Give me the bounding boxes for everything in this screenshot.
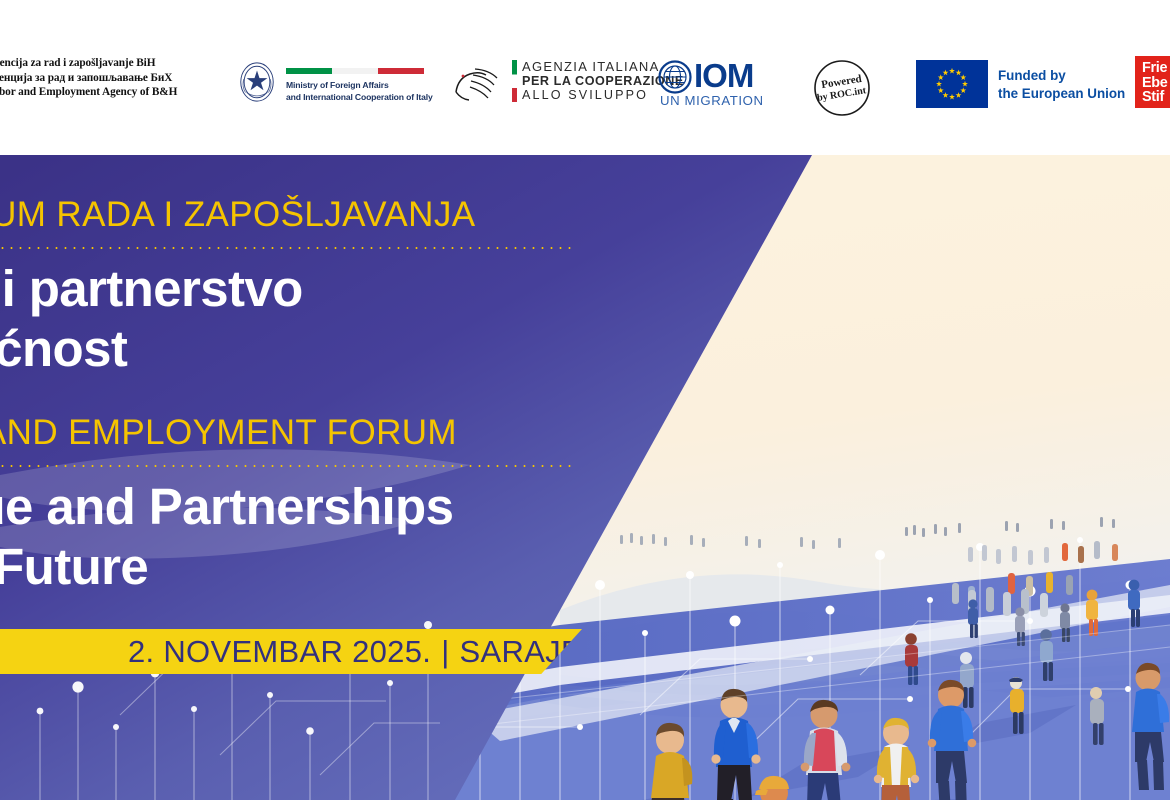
logo-funded-by-european-union: Funded by the European Union	[916, 60, 1116, 108]
dotted-rule-bosnian	[0, 247, 575, 249]
poster-page: Agencija za rad i zapošljavanje BiH Аген…	[0, 0, 1170, 800]
logo-friedrich-ebert-stiftung: Frie Ebe Stif	[1135, 56, 1170, 108]
logo-agenzia-italiana-cooperazione: AGENZIA ITALIANA PER LA COOPERAZIONE ALL…	[450, 56, 640, 111]
banner-text-block: VI FORUM RADA I ZAPOŠLJAVANJA jalog i pa…	[0, 155, 632, 800]
iom-acronym: IOM	[694, 55, 753, 97]
headline-bosnian-line2: budućnost	[0, 319, 127, 379]
partner-logo-strip: Agencija za rad i zapošljavanje BiH Аген…	[0, 0, 1170, 155]
agency-name-sr: Агенција за рад и запошљавање БиХ	[0, 71, 216, 86]
italy-mfa-line2: and International Cooperation of Italy	[286, 92, 436, 104]
eu-line1: Funded by	[998, 67, 1125, 85]
logo-iom-un-migration: IOM UN MIGRATION	[658, 58, 778, 108]
aics-line3: ALLO SVILUPPO	[522, 88, 648, 103]
aics-tricolor-bar	[512, 60, 517, 102]
event-banner: VI FORUM RADA I ZAPOŠLJAVANJA jalog i pa…	[0, 155, 1170, 800]
date-city-separator: |	[431, 634, 459, 669]
fes-line3: Stif	[1142, 90, 1168, 105]
headline-english-line2: r the Future	[0, 537, 148, 597]
kicker-bosnian: VI FORUM RADA I ZAPOŠLJAVANJA	[0, 195, 475, 235]
headline-english-line1: alogue and Partnerships	[0, 477, 453, 537]
italy-mfa-line1: Ministry of Foreign Affairs	[286, 80, 436, 92]
aics-line1: AGENZIA ITALIANA	[522, 59, 660, 74]
italy-republic-emblem-icon	[236, 60, 278, 104]
logo-ministry-foreign-affairs-italy: Ministry of Foreign Affairs and Internat…	[236, 58, 436, 110]
stamp-icon: Powered by ROC.int	[806, 58, 878, 118]
kicker-english: BOUR AND EMPLOYMENT FORUM	[0, 413, 457, 453]
event-date-location-bar: 2. NOVEMBAR 2025.|SARAJEVO	[0, 629, 582, 674]
agency-name-bs: Agencija za rad i zapošljavanje BiH	[0, 56, 216, 71]
dotted-rule-english	[0, 465, 575, 467]
eu-funded-label: Funded by the European Union	[998, 67, 1125, 102]
eu-flag-icon	[916, 60, 988, 108]
event-date: 2. NOVEMBAR 2025.	[128, 634, 431, 669]
iom-subtitle: UN MIGRATION	[660, 93, 764, 108]
logo-labor-employment-agency-bih: Agencija za rad i zapošljavanje BiH Аген…	[0, 56, 216, 100]
italy-mfa-label: Ministry of Foreign Affairs and Internat…	[286, 80, 436, 103]
agency-name-en: Labor and Employment Agency of B&H	[0, 85, 216, 100]
eu-line2: the European Union	[998, 85, 1125, 103]
dove-icon	[450, 60, 512, 104]
globe-icon	[658, 60, 692, 94]
headline-bosnian-line1: jalog i partnerstvo	[0, 259, 303, 319]
fes-label: Frie Ebe Stif	[1142, 61, 1168, 105]
logo-powered-by-roc-int: Powered by ROC.int	[806, 58, 878, 118]
italy-tricolor-bar	[286, 68, 424, 74]
fes-line1: Frie	[1142, 61, 1168, 76]
fes-line2: Ebe	[1142, 76, 1168, 91]
